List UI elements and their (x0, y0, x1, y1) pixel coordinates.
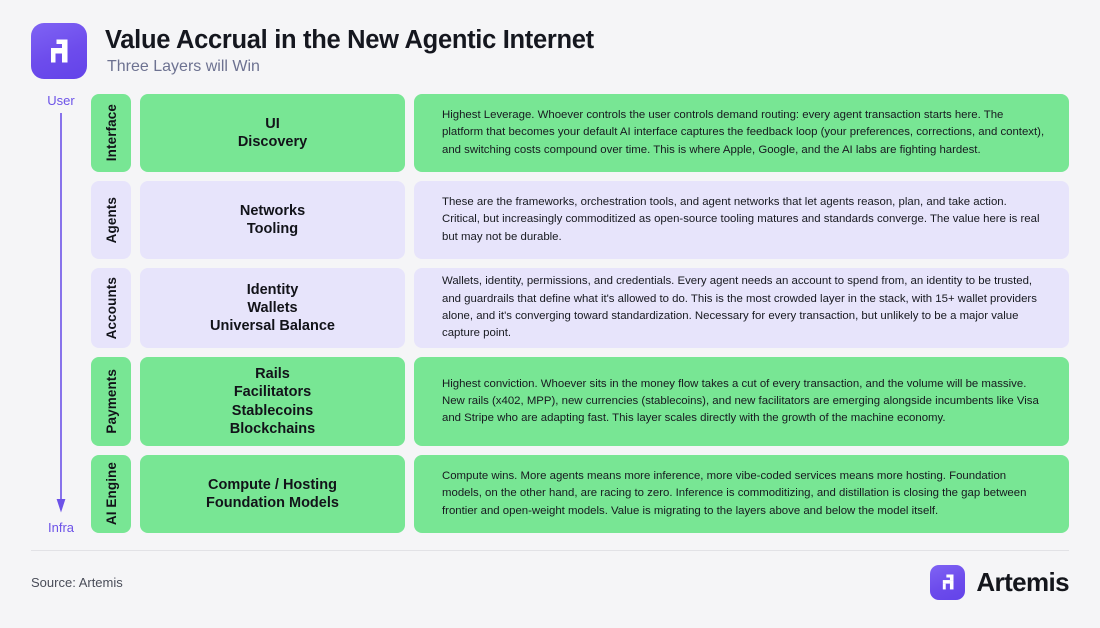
row-main-line: Rails (255, 365, 290, 383)
page-title: Value Accrual in the New Agentic Interne… (105, 26, 594, 54)
row-main-line: UI (265, 115, 280, 133)
row-desc-accounts: Wallets, identity, permissions, and cred… (414, 268, 1069, 348)
table-row: Accounts Identity Wallets Universal Bala… (91, 268, 1069, 348)
row-desc-ai-engine: Compute wins. More agents means more inf… (414, 455, 1069, 533)
row-tag-agents: Agents (91, 181, 131, 259)
artemis-logo-icon (930, 565, 965, 600)
row-tag-ai-engine: AI Engine (91, 455, 131, 533)
axis-label-infra: Infra (48, 521, 74, 534)
row-main-line: Blockchains (230, 420, 315, 438)
row-main-line: Universal Balance (210, 317, 335, 335)
row-main-line: Stablecoins (232, 402, 313, 420)
row-tag-payments: Payments (91, 357, 131, 446)
table-row: Agents Networks Tooling These are the fr… (91, 181, 1069, 259)
source-label: Source: Artemis (31, 575, 123, 590)
artemis-logo-icon (31, 23, 87, 79)
row-main-line: Wallets (247, 299, 297, 317)
value-axis: User Infra (31, 94, 91, 534)
row-tag-accounts: Accounts (91, 268, 131, 348)
row-tag-label: AI Engine (104, 462, 119, 525)
row-main-accounts: Identity Wallets Universal Balance (140, 268, 405, 348)
table-row: AI Engine Compute / Hosting Foundation M… (91, 455, 1069, 533)
row-desc-text: Highest conviction. Whoever sits in the … (442, 376, 1045, 428)
row-desc-text: These are the frameworks, orchestration … (442, 194, 1045, 246)
row-tag-label: Interface (104, 104, 119, 161)
row-tag-interface: Interface (91, 94, 131, 172)
row-main-line: Compute / Hosting (208, 476, 337, 494)
table-row: Payments Rails Facilitators Stablecoins … (91, 357, 1069, 446)
footer-brand: Artemis (930, 565, 1069, 600)
row-tag-label: Payments (104, 369, 119, 434)
layer-rows: Interface UI Discovery Highest Leverage.… (91, 94, 1069, 533)
row-main-interface: UI Discovery (140, 94, 405, 172)
row-tag-label: Accounts (104, 277, 119, 339)
row-main-line: Facilitators (234, 383, 311, 401)
row-tag-label: Agents (104, 197, 119, 243)
table-row: Interface UI Discovery Highest Leverage.… (91, 94, 1069, 172)
row-main-agents: Networks Tooling (140, 181, 405, 259)
row-main-line: Foundation Models (206, 494, 339, 512)
row-desc-text: Highest Leverage. Whoever controls the u… (442, 107, 1045, 159)
row-desc-text: Compute wins. More agents means more inf… (442, 468, 1045, 520)
row-desc-payments: Highest conviction. Whoever sits in the … (414, 357, 1069, 446)
layer-stack-chart: User Infra Interface UI Discovery Highes… (0, 82, 1100, 540)
row-main-line: Tooling (247, 220, 298, 238)
page-footer: Source: Artemis Artemis (31, 551, 1069, 613)
row-main-line: Discovery (238, 133, 307, 151)
row-main-payments: Rails Facilitators Stablecoins Blockchai… (140, 357, 405, 446)
row-main-ai-engine: Compute / Hosting Foundation Models (140, 455, 405, 533)
header-text-block: Value Accrual in the New Agentic Interne… (105, 26, 594, 76)
axis-label-user: User (47, 94, 74, 107)
page-subtitle: Three Layers will Win (105, 58, 594, 76)
row-desc-agents: These are the frameworks, orchestration … (414, 181, 1069, 259)
row-desc-text: Wallets, identity, permissions, and cred… (442, 273, 1045, 342)
arrow-down-icon (54, 113, 68, 517)
artemis-wordmark: Artemis (976, 567, 1069, 598)
row-main-line: Identity (247, 281, 299, 299)
row-main-line: Networks (240, 202, 305, 220)
page-header: Value Accrual in the New Agentic Interne… (0, 0, 1100, 82)
row-desc-interface: Highest Leverage. Whoever controls the u… (414, 94, 1069, 172)
